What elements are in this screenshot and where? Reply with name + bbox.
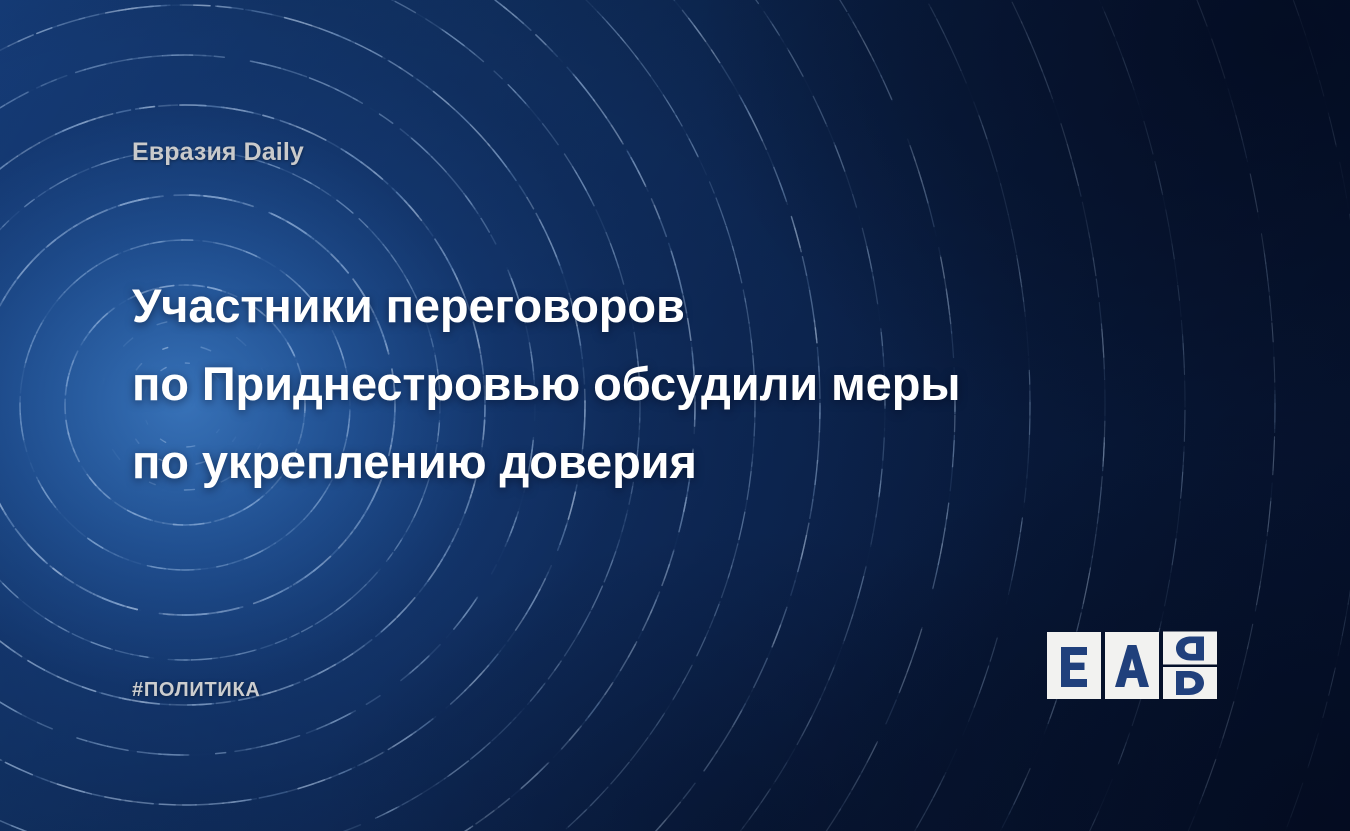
card-content: Евразия Daily Участники переговоров по П… [0,0,1350,831]
headline-line-2: по Приднестровью обсудили меры [132,345,1132,423]
logo-tile-d-stack [1163,632,1217,699]
logo-tile-d-bottom [1163,667,1217,700]
logo-tile-d-top [1163,632,1217,665]
news-social-card: Евразия Daily Участники переговоров по П… [0,0,1350,831]
eadaily-logo [1047,632,1217,699]
headline-line-1: Участники переговоров [132,267,1132,345]
logo-tile-a [1105,632,1159,699]
brand-wordmark: Евразия Daily [132,137,304,167]
logo-tile-e [1047,632,1101,699]
headline-line-3: по укреплению доверия [132,423,1132,501]
category-tag[interactable]: #ПОЛИТИКА [132,679,261,702]
headline: Участники переговоров по Приднестровью о… [132,267,1132,501]
